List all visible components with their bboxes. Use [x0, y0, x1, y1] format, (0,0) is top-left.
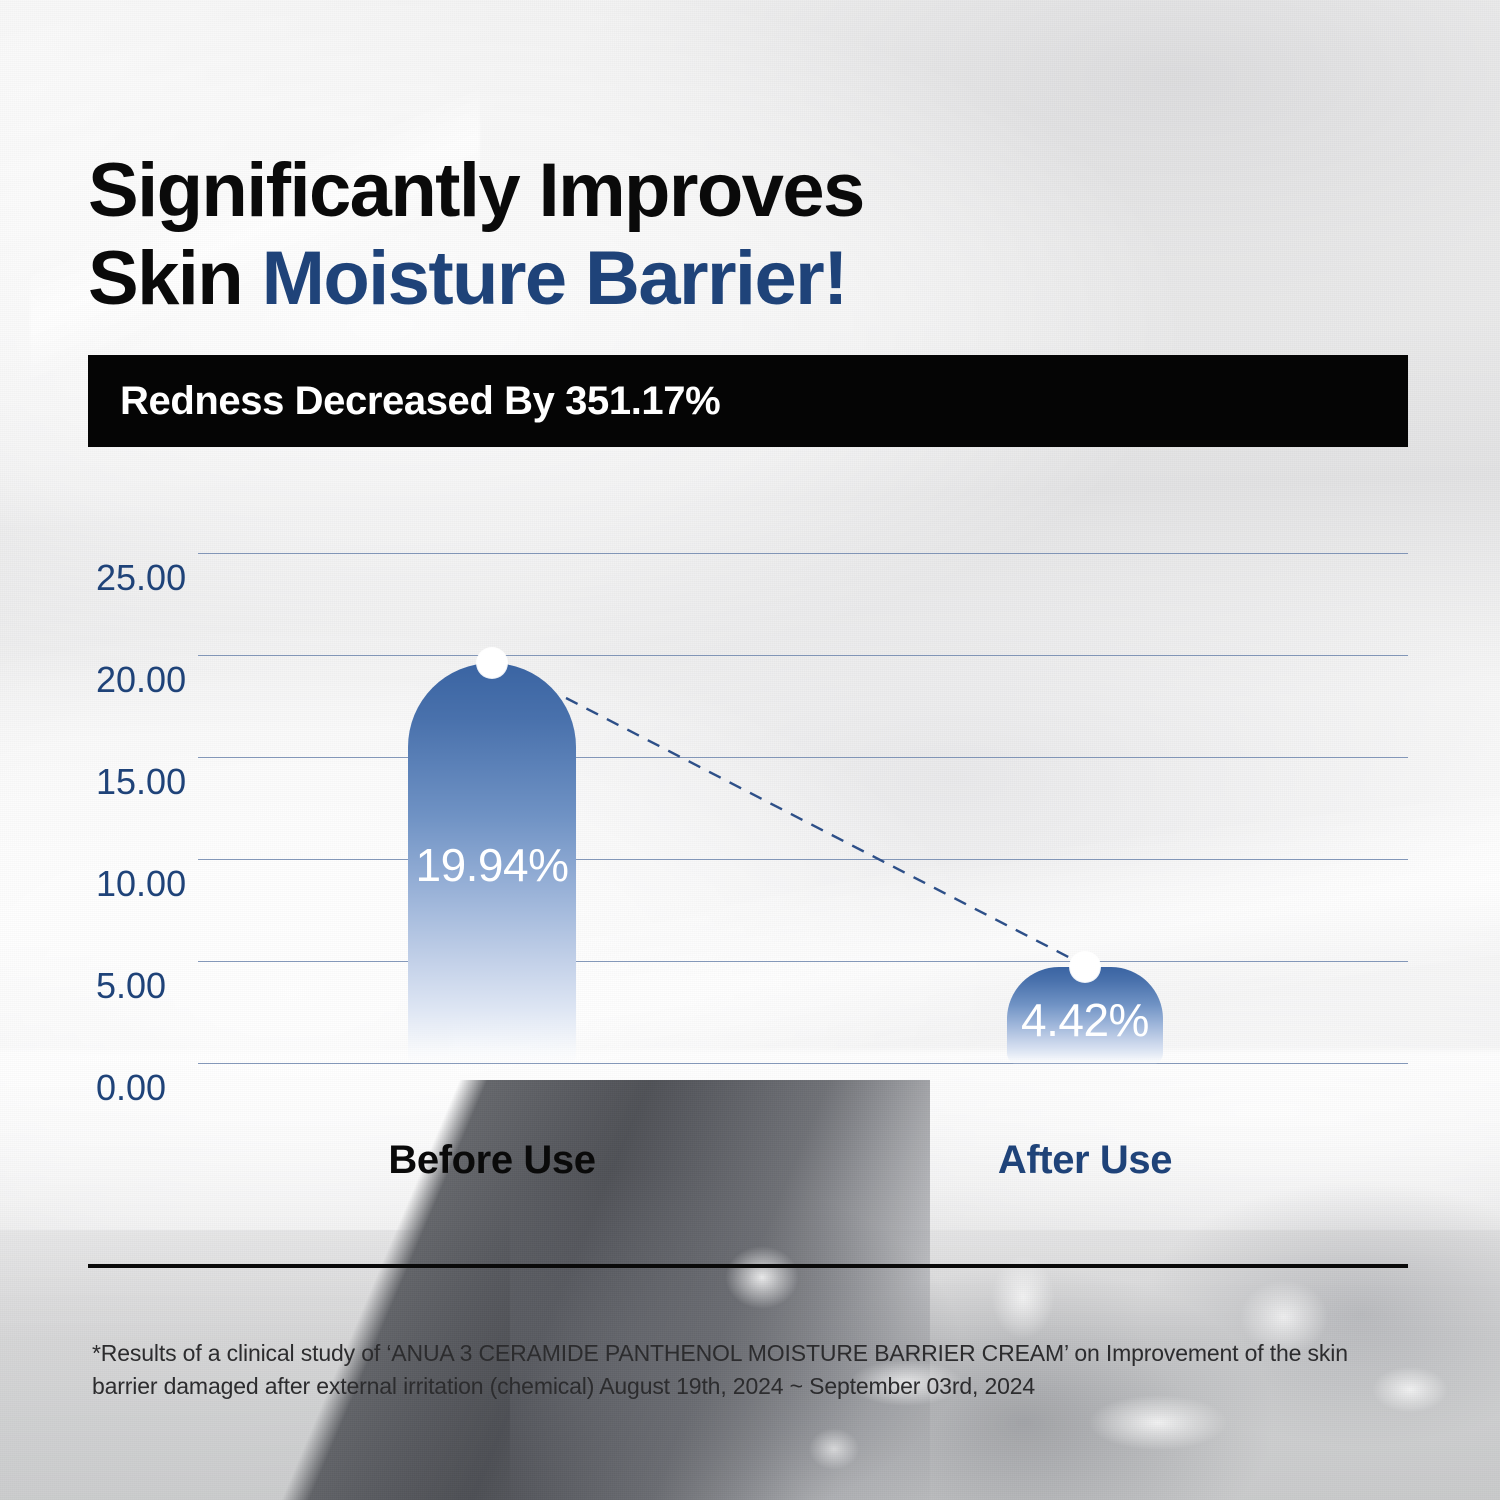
- headline-line-1: Significantly Improves: [88, 148, 864, 233]
- headline-line-2-plain: Skin: [88, 236, 262, 321]
- page-title: Significantly Improves Skin Moisture Bar…: [88, 147, 864, 323]
- y-axis-tick-20: 20.00: [96, 659, 216, 701]
- bar-after-use-fill: [1007, 967, 1163, 1065]
- y-axis-tick-0: 0.00: [96, 1067, 216, 1109]
- x-axis-label-after-use: After Use: [935, 1138, 1235, 1183]
- bar-before-use-fill: [408, 663, 576, 1065]
- gridline-15: [198, 757, 1408, 758]
- gridline-10: [198, 859, 1408, 860]
- bar-after-use-value: 4.42%: [1007, 993, 1163, 1047]
- stat-banner-text: Redness Decreased By 351.17%: [120, 379, 720, 424]
- stat-banner: Redness Decreased By 351.17%: [88, 355, 1408, 447]
- bar-before-use-marker-dot: [477, 648, 507, 678]
- dashed-trend-line: [566, 698, 1082, 964]
- y-axis-tick-10: 10.00: [96, 863, 216, 905]
- footnote-text: *Results of a clinical study of ‘ANUA 3 …: [92, 1337, 1402, 1403]
- gridline-5: [198, 961, 1408, 962]
- gridline-0: [198, 1063, 1408, 1064]
- y-axis-tick-15: 15.00: [96, 761, 216, 803]
- gridline-25: [198, 553, 1408, 554]
- bar-after-use-marker-dot: [1070, 952, 1100, 982]
- y-axis-tick-5: 5.00: [96, 965, 216, 1007]
- footnote-divider: [88, 1264, 1408, 1268]
- y-axis-tick-25: 25.00: [96, 557, 216, 599]
- bar-before-use-value: 19.94%: [408, 838, 576, 892]
- bar-after-use: 4.42%: [1007, 967, 1163, 1065]
- bar-before-use: 19.94%: [408, 663, 576, 1065]
- headline-line-2-accent: Moisture Barrier!: [262, 236, 847, 321]
- x-axis-label-before-use: Before Use: [342, 1138, 642, 1183]
- gridline-20: [198, 655, 1408, 656]
